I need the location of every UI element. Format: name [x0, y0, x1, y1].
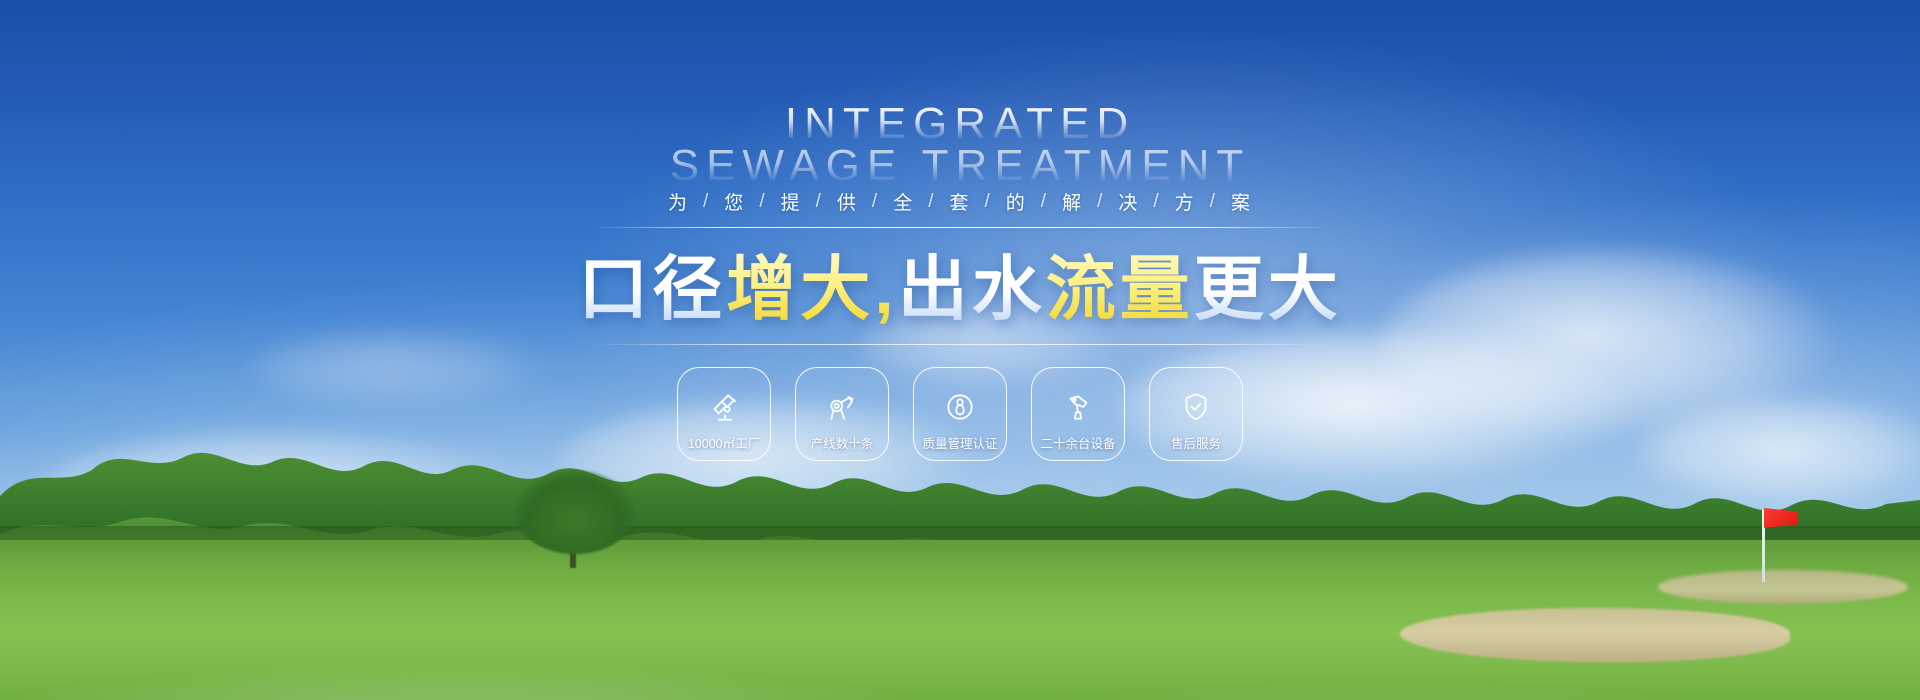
main-headline: 口径增大,出水流量更大	[0, 250, 1920, 328]
sub-slogan: 为/您/提/供/全/套/的/解/决/方/案	[0, 188, 1920, 215]
divider-bottom	[591, 344, 1329, 345]
headline-segment: 更大	[1194, 250, 1342, 328]
sub-slogan-separator: /	[1093, 191, 1108, 213]
headline-segment: 增大	[726, 250, 874, 328]
sub-slogan-separator: /	[1149, 191, 1164, 213]
sub-slogan-char: 提	[771, 188, 812, 215]
feature-badge-label: 质量管理认证	[922, 433, 997, 452]
feature-badge-4[interactable]: 二十余台设备	[1031, 367, 1125, 461]
sub-slogan-char: 方	[1165, 188, 1206, 215]
headline-segment: 口径	[578, 250, 726, 328]
english-line-2: SEWAGE TREATMENT	[0, 144, 1920, 188]
banner-content: INTEGRATED SEWAGE TREATMENT 为/您/提/供/全/套/…	[0, 0, 1920, 461]
equipment-tool-icon	[1061, 390, 1095, 424]
sand-bunker	[1658, 570, 1908, 604]
foreground-tree	[515, 470, 635, 554]
divider-top	[591, 227, 1329, 228]
sub-slogan-separator: /	[1206, 191, 1221, 213]
sub-slogan-separator: /	[981, 191, 996, 213]
sub-slogan-separator: /	[1037, 191, 1052, 213]
hero-banner: INTEGRATED SEWAGE TREATMENT 为/您/提/供/全/套/…	[0, 0, 1920, 700]
feature-badge-label: 二十余台设备	[1040, 433, 1115, 452]
sub-slogan-char: 为	[658, 188, 699, 215]
headline-segment: 流量	[1046, 250, 1194, 328]
sub-slogan-char: 全	[883, 188, 924, 215]
feature-badge-label: 售后服务	[1171, 433, 1221, 452]
feature-badge-3[interactable]: 质量管理认证	[913, 367, 1007, 461]
feature-badge-label: 产线数十条	[811, 433, 874, 452]
sub-slogan-char: 解	[1052, 188, 1093, 215]
shield-check-icon	[1179, 390, 1213, 424]
feature-badge-list: 10000㎡工厂产线数十条质量管理认证二十余台设备售后服务	[0, 367, 1920, 461]
sub-slogan-char: 案	[1221, 188, 1262, 215]
english-heading: INTEGRATED SEWAGE TREATMENT	[0, 98, 1920, 182]
sub-slogan-separator: /	[868, 191, 883, 213]
microscope-icon	[707, 390, 741, 424]
sub-slogan-separator: /	[699, 191, 714, 213]
feature-badge-1[interactable]: 10000㎡工厂	[677, 367, 771, 461]
sub-slogan-separator: /	[924, 191, 939, 213]
english-line-1: INTEGRATED	[0, 102, 1920, 146]
certificate-medal-icon	[943, 390, 977, 424]
sub-slogan-char: 决	[1108, 188, 1149, 215]
headline-segment: 出水	[898, 250, 1046, 328]
sub-slogan-char: 供	[827, 188, 868, 215]
sub-slogan-char: 您	[714, 188, 755, 215]
sub-slogan-separator: /	[812, 191, 827, 213]
feature-badge-2[interactable]: 产线数十条	[795, 367, 889, 461]
production-line-icon	[825, 390, 859, 424]
sub-slogan-separator: /	[755, 191, 770, 213]
headline-segment: ,	[874, 250, 897, 328]
feature-badge-5[interactable]: 售后服务	[1149, 367, 1243, 461]
sub-slogan-char: 套	[939, 188, 980, 215]
sub-slogan-char: 的	[996, 188, 1037, 215]
feature-badge-label: 10000㎡工厂	[688, 433, 760, 452]
